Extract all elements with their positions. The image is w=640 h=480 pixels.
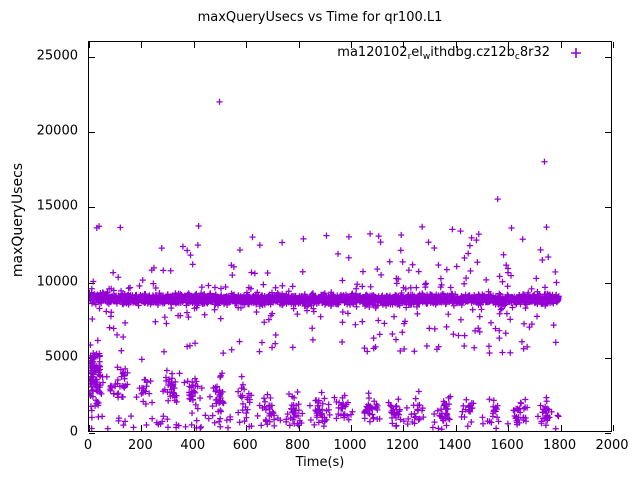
data-point-marker [198, 424, 204, 430]
data-point-marker [97, 359, 103, 365]
data-point-marker [346, 255, 352, 261]
data-point-marker [335, 251, 341, 257]
data-point-marker [89, 414, 95, 420]
data-point-marker [326, 401, 332, 407]
data-point-marker [197, 395, 203, 401]
data-point-marker [495, 196, 501, 202]
data-point-marker [463, 275, 469, 281]
data-point-marker [454, 263, 460, 269]
data-point-marker [378, 272, 384, 278]
data-point-marker [393, 403, 399, 409]
data-point-marker [449, 226, 455, 232]
data-point-marker [443, 324, 449, 330]
data-point-marker [359, 319, 365, 325]
data-point-marker [120, 394, 126, 400]
data-point-marker [353, 304, 359, 310]
data-point-marker [253, 309, 259, 315]
legend-marker-plus-icon [570, 47, 582, 59]
data-point-marker [360, 269, 366, 275]
y-tick-mark [89, 433, 95, 434]
data-point-marker [202, 412, 208, 418]
data-point-marker [194, 417, 200, 423]
x-tick-label: 800 [285, 438, 310, 453]
data-point-marker [410, 262, 416, 268]
data-point-marker [196, 223, 202, 229]
data-point-marker [225, 425, 231, 431]
data-point-marker [176, 370, 182, 376]
data-point-marker [273, 332, 279, 338]
data-point-marker [262, 399, 268, 405]
data-point-marker [267, 395, 273, 401]
data-point-marker [406, 267, 412, 273]
data-point-marker [461, 255, 467, 261]
chart-title: maxQueryUsecs vs Time for qr100.L1 [0, 10, 640, 25]
data-point-marker [457, 228, 463, 234]
y-tick-label: 20000 [37, 124, 78, 139]
data-point-marker [477, 329, 483, 335]
data-point-marker [107, 386, 113, 392]
data-points-layer [89, 42, 611, 431]
data-point-marker [467, 268, 473, 274]
data-point-marker [139, 356, 145, 362]
data-point-marker [161, 349, 167, 355]
data-point-marker [552, 269, 558, 275]
data-point-marker [455, 332, 461, 338]
data-point-marker [444, 267, 450, 273]
data-point-marker [160, 413, 166, 419]
data-point-marker [413, 285, 419, 291]
data-point-marker [218, 316, 224, 322]
x-tick-label: 1800 [543, 438, 576, 453]
data-point-marker [507, 350, 513, 356]
x-tick-label: 200 [128, 438, 153, 453]
data-point-marker [115, 274, 121, 280]
data-point-marker [505, 270, 511, 276]
data-point-marker [122, 320, 128, 326]
data-point-marker [555, 412, 561, 418]
y-tick-label: 5000 [45, 349, 78, 364]
data-point-marker [89, 342, 94, 348]
data-point-marker [143, 422, 149, 428]
data-point-marker [259, 339, 265, 345]
data-point-marker [217, 424, 223, 430]
data-point-marker [224, 417, 230, 423]
data-point-marker [470, 307, 476, 313]
data-point-marker [149, 416, 155, 422]
data-point-marker [169, 375, 175, 381]
data-point-marker [110, 269, 116, 275]
data-point-marker [395, 396, 401, 402]
data-point-marker [424, 343, 430, 349]
data-point-marker [207, 394, 213, 400]
data-point-marker [505, 283, 511, 289]
data-point-marker [184, 247, 190, 253]
data-point-marker [553, 426, 559, 431]
data-point-marker [160, 267, 166, 273]
data-point-marker [105, 426, 111, 431]
data-point-marker [237, 419, 243, 425]
data-point-marker [493, 425, 499, 431]
data-point-marker [248, 269, 254, 275]
data-point-marker [431, 419, 437, 425]
data-point-marker [192, 375, 198, 381]
data-point-marker [448, 284, 454, 290]
data-point-marker [189, 410, 195, 416]
data-point-marker [308, 417, 314, 423]
data-point-marker [128, 413, 134, 419]
data-point-marker [136, 283, 142, 289]
data-point-marker [180, 243, 186, 249]
data-point-marker [89, 286, 95, 292]
data-point-marker [339, 319, 345, 325]
data-point-marker [430, 424, 436, 430]
data-point-marker [435, 262, 441, 268]
data-point-marker [461, 343, 467, 349]
data-point-marker [184, 343, 190, 349]
data-point-marker [256, 349, 262, 355]
data-point-marker [89, 403, 94, 409]
data-point-marker [545, 254, 551, 260]
data-point-marker [551, 322, 557, 328]
x-tick-label: 1600 [491, 438, 524, 453]
data-point-marker [374, 266, 380, 272]
data-point-marker [185, 378, 191, 384]
data-point-marker [522, 396, 528, 402]
data-point-marker [543, 224, 549, 230]
data-point-marker [133, 394, 139, 400]
data-point-marker [423, 280, 429, 286]
data-point-marker [290, 344, 296, 350]
data-point-marker [483, 277, 489, 283]
data-point-marker [349, 409, 355, 415]
data-point-marker [265, 270, 271, 276]
data-point-marker [553, 279, 559, 285]
data-point-marker [271, 423, 277, 429]
data-point-marker [443, 422, 449, 428]
data-point-marker [497, 311, 503, 317]
legend-series-label: ma120102relwithdbg.cz12bc8r32 [337, 45, 550, 60]
data-point-marker [294, 311, 300, 317]
data-point-marker [195, 242, 201, 248]
data-point-marker [500, 252, 506, 258]
x-tick-mark [613, 425, 614, 431]
data-point-marker [279, 239, 285, 245]
data-point-marker [111, 391, 117, 397]
data-point-marker [381, 320, 387, 326]
data-point-marker [117, 224, 123, 230]
data-point-marker [543, 395, 549, 401]
data-point-marker [190, 261, 196, 267]
y-tick-mark [605, 433, 611, 434]
data-point-marker [520, 236, 526, 242]
data-point-marker [518, 400, 524, 406]
data-point-marker [499, 349, 505, 355]
data-point-marker [404, 405, 410, 411]
data-point-marker [243, 410, 249, 416]
x-axis-title: Time(s) [0, 455, 640, 470]
data-point-marker [534, 313, 540, 319]
data-point-marker [255, 413, 261, 419]
data-point-marker [476, 231, 482, 237]
data-point-marker [533, 275, 539, 281]
x-tick-label: 400 [180, 438, 205, 453]
data-point-marker [216, 99, 222, 105]
data-point-marker [240, 382, 246, 388]
data-point-marker [486, 350, 492, 356]
data-point-marker [465, 423, 471, 429]
data-point-marker [371, 335, 377, 341]
data-point-marker [488, 320, 494, 326]
data-point-marker [258, 422, 264, 428]
data-point-marker [309, 325, 315, 331]
data-point-marker [367, 419, 373, 425]
data-point-marker [505, 421, 511, 427]
data-point-marker [162, 314, 168, 320]
data-point-marker [261, 395, 267, 401]
data-point-marker [114, 332, 120, 338]
data-point-marker [340, 309, 346, 315]
data-point-marker [508, 273, 514, 279]
data-point-marker [257, 242, 263, 248]
data-point-marker [96, 305, 102, 311]
data-point-marker [458, 317, 464, 323]
data-point-marker [237, 247, 243, 253]
data-point-marker [120, 334, 126, 340]
data-point-marker [393, 423, 399, 429]
data-point-marker [522, 305, 528, 311]
data-point-marker [367, 231, 373, 237]
data-point-marker [130, 424, 136, 430]
data-point-marker [217, 416, 223, 422]
data-point-marker [89, 425, 95, 431]
data-point-marker [387, 259, 393, 265]
data-point-marker [152, 319, 158, 325]
data-point-marker [432, 326, 438, 332]
data-point-marker [182, 424, 188, 430]
data-point-marker [168, 268, 174, 274]
y-tick-label: 10000 [37, 274, 78, 289]
data-point-marker [519, 339, 525, 345]
data-point-marker [95, 337, 101, 343]
data-point-marker [264, 392, 270, 398]
data-point-marker [431, 245, 437, 251]
data-point-marker [463, 397, 469, 403]
data-point-marker [542, 284, 548, 290]
data-point-marker [435, 425, 441, 431]
data-point-marker [279, 283, 285, 289]
data-point-marker [353, 286, 359, 292]
y-tick-label: 0 [70, 425, 78, 440]
data-point-marker [148, 378, 154, 384]
data-point-marker [413, 396, 419, 402]
data-point-marker [239, 373, 245, 379]
data-point-marker [202, 312, 208, 318]
plot-area [88, 41, 612, 432]
data-point-marker [400, 259, 406, 265]
data-point-marker [310, 337, 316, 343]
x-tick-mark [613, 42, 614, 48]
data-point-marker [398, 232, 404, 238]
data-point-marker [416, 388, 422, 394]
data-point-marker [229, 347, 235, 353]
data-point-marker [478, 306, 484, 312]
data-point-marker [319, 389, 325, 395]
data-point-marker [140, 277, 146, 283]
x-tick-label: 0 [84, 438, 92, 453]
data-point-marker [411, 411, 417, 417]
x-tick-label: 1000 [333, 438, 366, 453]
data-point-marker [461, 414, 467, 420]
data-point-marker [465, 250, 471, 256]
data-point-marker [376, 233, 382, 239]
data-point-marker [375, 317, 381, 323]
data-point-marker [339, 339, 345, 345]
data-point-marker [229, 272, 235, 278]
data-point-marker [149, 399, 155, 405]
data-point-marker [529, 286, 535, 292]
data-point-marker [165, 424, 171, 430]
data-point-marker [391, 314, 397, 320]
data-point-marker [307, 403, 313, 409]
data-point-marker [187, 252, 193, 258]
data-point-marker [497, 273, 503, 279]
data-point-marker [508, 225, 514, 231]
data-point-marker [269, 344, 275, 350]
data-point-marker [290, 283, 296, 289]
data-point-marker [438, 276, 444, 282]
data-point-marker [108, 309, 114, 315]
data-point-marker [212, 420, 218, 426]
data-point-marker [496, 335, 502, 341]
data-point-marker [273, 285, 279, 291]
data-point-marker [159, 245, 165, 251]
data-point-marker [366, 390, 372, 396]
data-point-marker [504, 311, 510, 317]
data-point-marker [323, 233, 329, 239]
data-point-marker [99, 413, 105, 419]
data-point-marker [300, 236, 306, 242]
y-tick-label: 25000 [37, 49, 78, 64]
gnuplot-scatter-chart: maxQueryUsecs vs Time for qr100.L1 maxQu… [0, 0, 640, 480]
data-point-marker [236, 339, 242, 345]
data-point-marker [103, 308, 109, 314]
data-point-marker [503, 330, 509, 336]
data-point-marker [197, 425, 203, 431]
data-point-marker [389, 331, 395, 337]
data-point-marker [249, 234, 255, 240]
data-point-marker [199, 284, 205, 290]
data-point-marker [260, 282, 266, 288]
data-point-marker [339, 277, 345, 283]
y-axis-title: maxQueryUsecs [10, 140, 26, 300]
data-point-marker [216, 419, 222, 425]
data-point-marker [163, 320, 169, 326]
x-tick-label: 1200 [386, 438, 419, 453]
data-point-marker [416, 268, 422, 274]
data-point-marker [471, 345, 477, 351]
data-point-marker [393, 337, 399, 343]
data-point-marker [537, 247, 543, 253]
data-point-marker [294, 389, 300, 395]
x-tick-label: 1400 [438, 438, 471, 453]
data-point-marker [431, 411, 437, 417]
data-point-marker [220, 350, 226, 356]
data-point-marker [346, 234, 352, 240]
data-point-marker [521, 321, 527, 327]
data-point-marker [445, 311, 451, 317]
data-point-marker [212, 307, 218, 313]
data-point-marker [352, 322, 358, 328]
data-point-marker [252, 270, 258, 276]
data-point-marker [212, 284, 218, 290]
data-point-marker [419, 224, 425, 230]
data-point-marker [479, 414, 485, 420]
data-point-marker [118, 348, 124, 354]
data-point-marker [507, 316, 513, 322]
data-point-marker [414, 311, 420, 317]
data-point-marker [321, 423, 327, 429]
data-point-marker [450, 331, 456, 337]
data-point-marker [394, 280, 400, 286]
data-point-marker [127, 285, 133, 291]
legend: ma120102relwithdbg.cz12bc8r32 [300, 45, 590, 67]
data-point-marker [398, 247, 404, 253]
data-point-marker [318, 314, 324, 320]
data-point-marker [499, 279, 505, 285]
data-point-marker [272, 341, 278, 347]
data-point-marker [477, 314, 483, 320]
data-point-marker [399, 329, 405, 335]
data-point-marker [368, 284, 374, 290]
data-point-marker [184, 310, 190, 316]
y-tick-label: 15000 [37, 199, 78, 214]
data-point-marker [461, 281, 467, 287]
data-point-marker [164, 367, 170, 373]
data-point-marker [491, 397, 497, 403]
data-point-marker [189, 422, 195, 428]
data-point-marker [490, 413, 496, 419]
data-point-marker [97, 372, 103, 378]
data-point-marker [210, 413, 216, 419]
data-point-marker [539, 257, 545, 263]
data-point-marker [474, 259, 480, 265]
data-point-marker [206, 416, 212, 422]
data-point-marker [193, 378, 199, 384]
data-point-marker [362, 415, 368, 421]
data-point-marker [106, 324, 112, 330]
data-point-marker [370, 415, 376, 421]
data-point-marker [411, 348, 417, 354]
data-point-marker [377, 331, 383, 337]
data-point-marker [467, 243, 473, 249]
data-point-marker [90, 278, 96, 284]
x-tick-label: 2000 [595, 438, 628, 453]
data-point-marker [205, 282, 211, 288]
data-point-marker [185, 314, 191, 320]
data-point-marker [89, 407, 95, 413]
data-point-marker [181, 379, 187, 385]
x-tick-label: 600 [233, 438, 258, 453]
data-point-marker [408, 285, 414, 291]
data-point-marker [300, 269, 306, 275]
data-point-marker [345, 310, 351, 316]
data-point-marker [89, 316, 95, 322]
data-point-marker [425, 239, 431, 245]
data-point-marker [486, 343, 492, 349]
data-point-marker [553, 339, 559, 345]
data-point-marker [462, 333, 468, 339]
data-point-marker [555, 413, 561, 419]
